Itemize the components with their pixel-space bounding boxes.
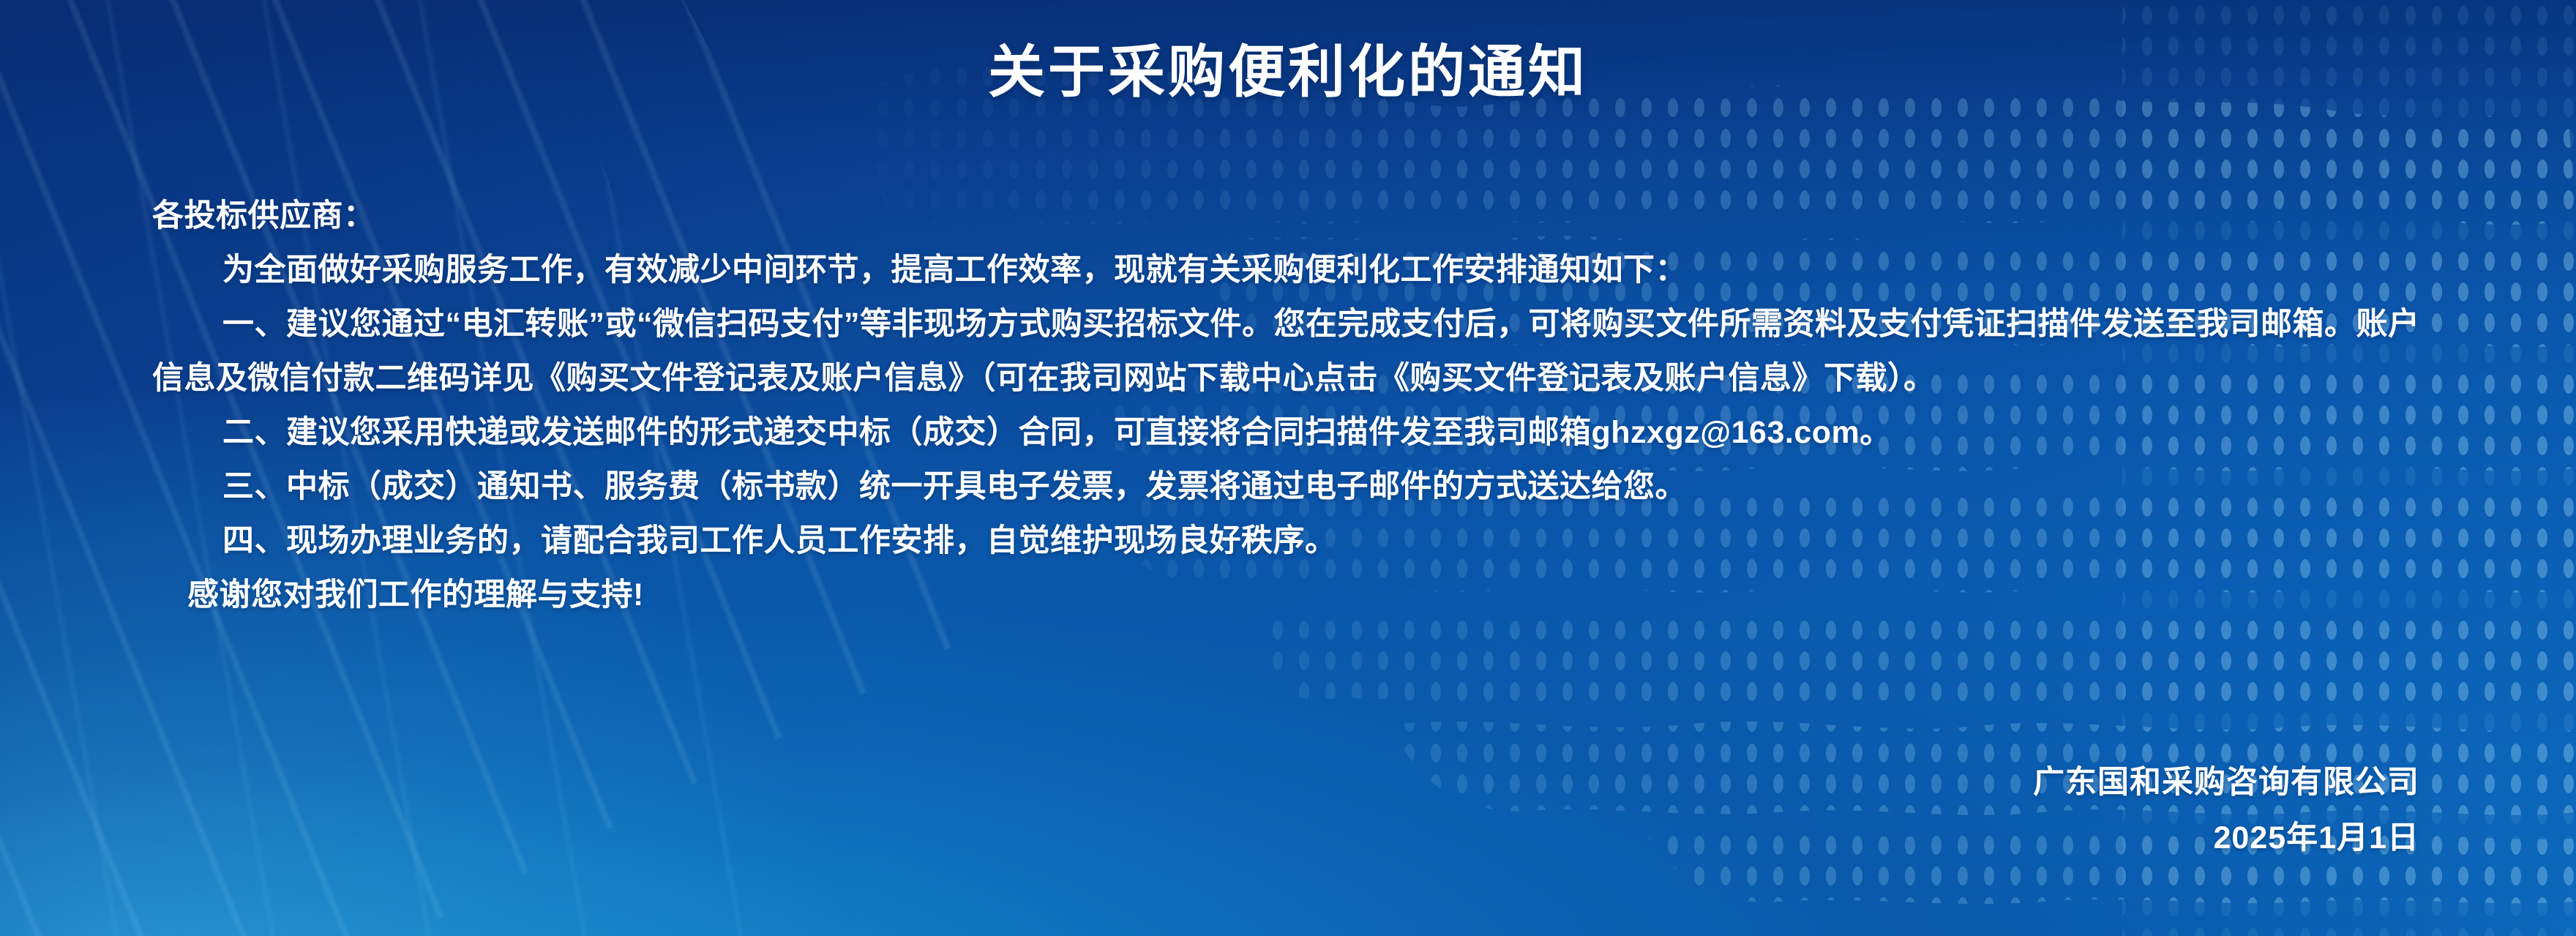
page-title: 关于采购便利化的通知 bbox=[0, 26, 2576, 108]
notice-paragraph-item-4: 四、现场办理业务的，请配合我司工作人员工作安排，自觉维护现场良好秩序。 bbox=[152, 514, 2435, 568]
notice-paragraph-intro: 为全面做好采购服务工作，有效减少中间环节，提高工作效率，现就有关采购便利化工作安… bbox=[152, 243, 2435, 297]
notice-banner: 关于采购便利化的通知 各投标供应商： 为全面做好采购服务工作，有效减少中间环节，… bbox=[0, 0, 2576, 936]
notice-content: 关于采购便利化的通知 各投标供应商： 为全面做好采购服务工作，有效减少中间环节，… bbox=[0, 0, 2576, 936]
salutation: 各投标供应商： bbox=[152, 189, 2435, 243]
notice-body: 各投标供应商： 为全面做好采购服务工作，有效减少中间环节，提高工作效率，现就有关… bbox=[152, 189, 2435, 622]
signature-company: 广东国和采购咨询有限公司 bbox=[2033, 755, 2419, 810]
notice-paragraph-item-1: 一、建议您通过“电汇转账”或“微信扫码支付”等非现场方式购买招标文件。您在完成支… bbox=[152, 297, 2435, 405]
notice-paragraph-item-3: 三、中标（成交）通知书、服务费（标书款）统一开具电子发票，发票将通过电子邮件的方… bbox=[152, 460, 2435, 514]
notice-paragraph-item-2: 二、建议您采用快递或发送邮件的形式递交中标（成交）合同，可直接将合同扫描件发至我… bbox=[152, 405, 2435, 460]
signature-block: 广东国和采购咨询有限公司 2025年1月1日 bbox=[2033, 755, 2419, 866]
notice-closing: 感谢您对我们工作的理解与支持! bbox=[152, 568, 2435, 622]
signature-date: 2025年1月1日 bbox=[2033, 810, 2419, 866]
